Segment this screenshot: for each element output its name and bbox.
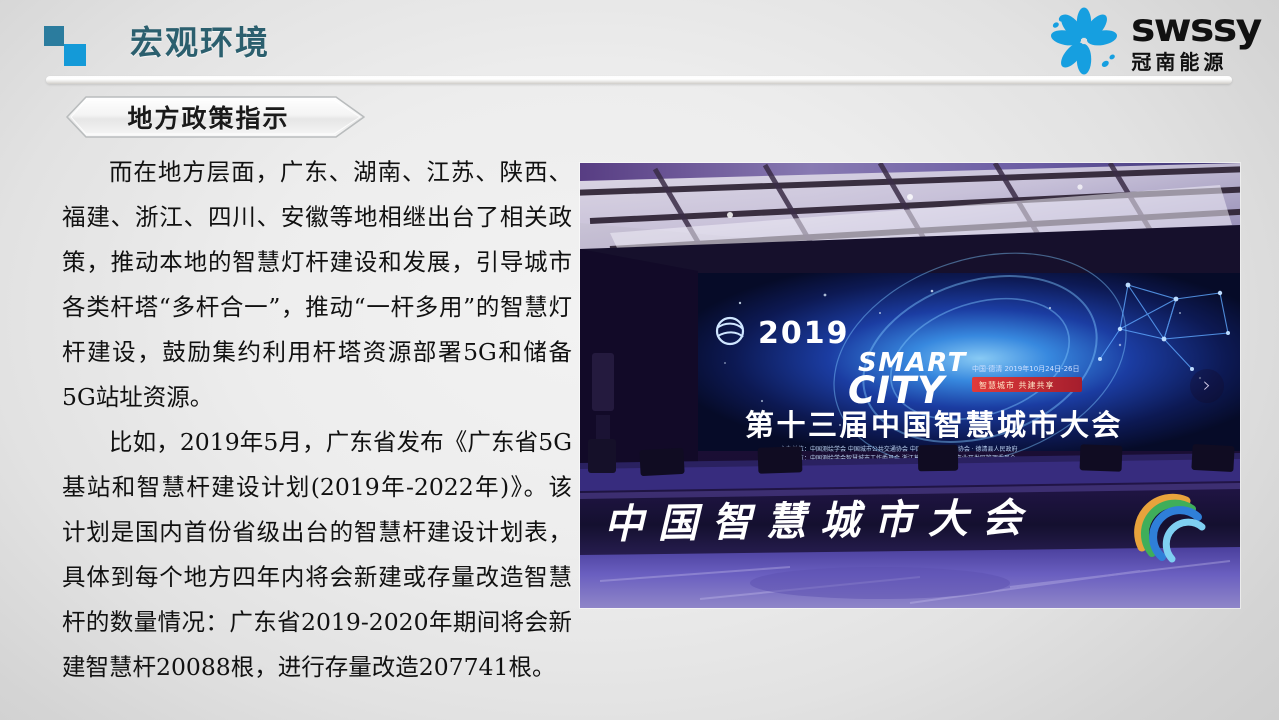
- slide-header: 宏观环境: [0, 0, 1279, 90]
- paragraph-1: 而在地方层面，广东、湖南、江苏、陕西、福建、浙江、四川、安徽等地相继出台了相关政…: [62, 150, 572, 420]
- svg-text:第十三届中国智慧城市大会: 第十三届中国智慧城市大会: [745, 408, 1123, 442]
- logo-chinese-name: 冠南能源: [1131, 53, 1255, 73]
- section-tab: 地方政策指示: [64, 94, 369, 140]
- logo-wordmark: swssy: [1131, 9, 1261, 48]
- company-logo: swssy 冠南能源: [1045, 4, 1255, 78]
- chevron-right-icon: ›: [1203, 375, 1211, 396]
- page-title: 宏观环境: [130, 18, 270, 68]
- svg-text:CITY: CITY: [848, 369, 947, 412]
- paragraph-2: 比如，2019年5月，广东省发布《广东省5G基站和智慧杆建设计划(2019年-2…: [62, 420, 572, 690]
- conference-photo: 2019 SMART CITY 中国·德清 2019年10月24日-26日 智慧…: [580, 163, 1240, 608]
- square-dark-icon: [44, 26, 64, 46]
- slide: 宏观环境: [0, 0, 1279, 720]
- body-text: 而在地方层面，广东、湖南、江苏、陕西、福建、浙江、四川、安徽等地相继出台了相关政…: [62, 150, 572, 690]
- svg-text:主办单位：中国测绘学会 中国城市公共交通协会 中国海: 主办单位：中国测绘学会 中国城市公共交通协会 中国海洋工程咨询协会 · 德清县人…: [780, 445, 1018, 453]
- square-light-icon: [64, 44, 86, 66]
- carousel-next-button[interactable]: ›: [1190, 369, 1224, 403]
- svg-text:中国智慧城市大会: 中国智慧城市大会: [603, 495, 1036, 548]
- svg-text:中国·德清 2019年10月24日-26日: 中国·德清 2019年10月24日-26日: [972, 364, 1080, 373]
- svg-text:2019: 2019: [758, 316, 850, 351]
- svg-text:智慧城市 共建共享: 智慧城市 共建共享: [979, 380, 1055, 390]
- section-tab-label: 地方政策指示: [64, 94, 369, 140]
- blue-petal-circle-emblem-icon: [1045, 6, 1123, 76]
- title-decoration-squares: [44, 26, 90, 66]
